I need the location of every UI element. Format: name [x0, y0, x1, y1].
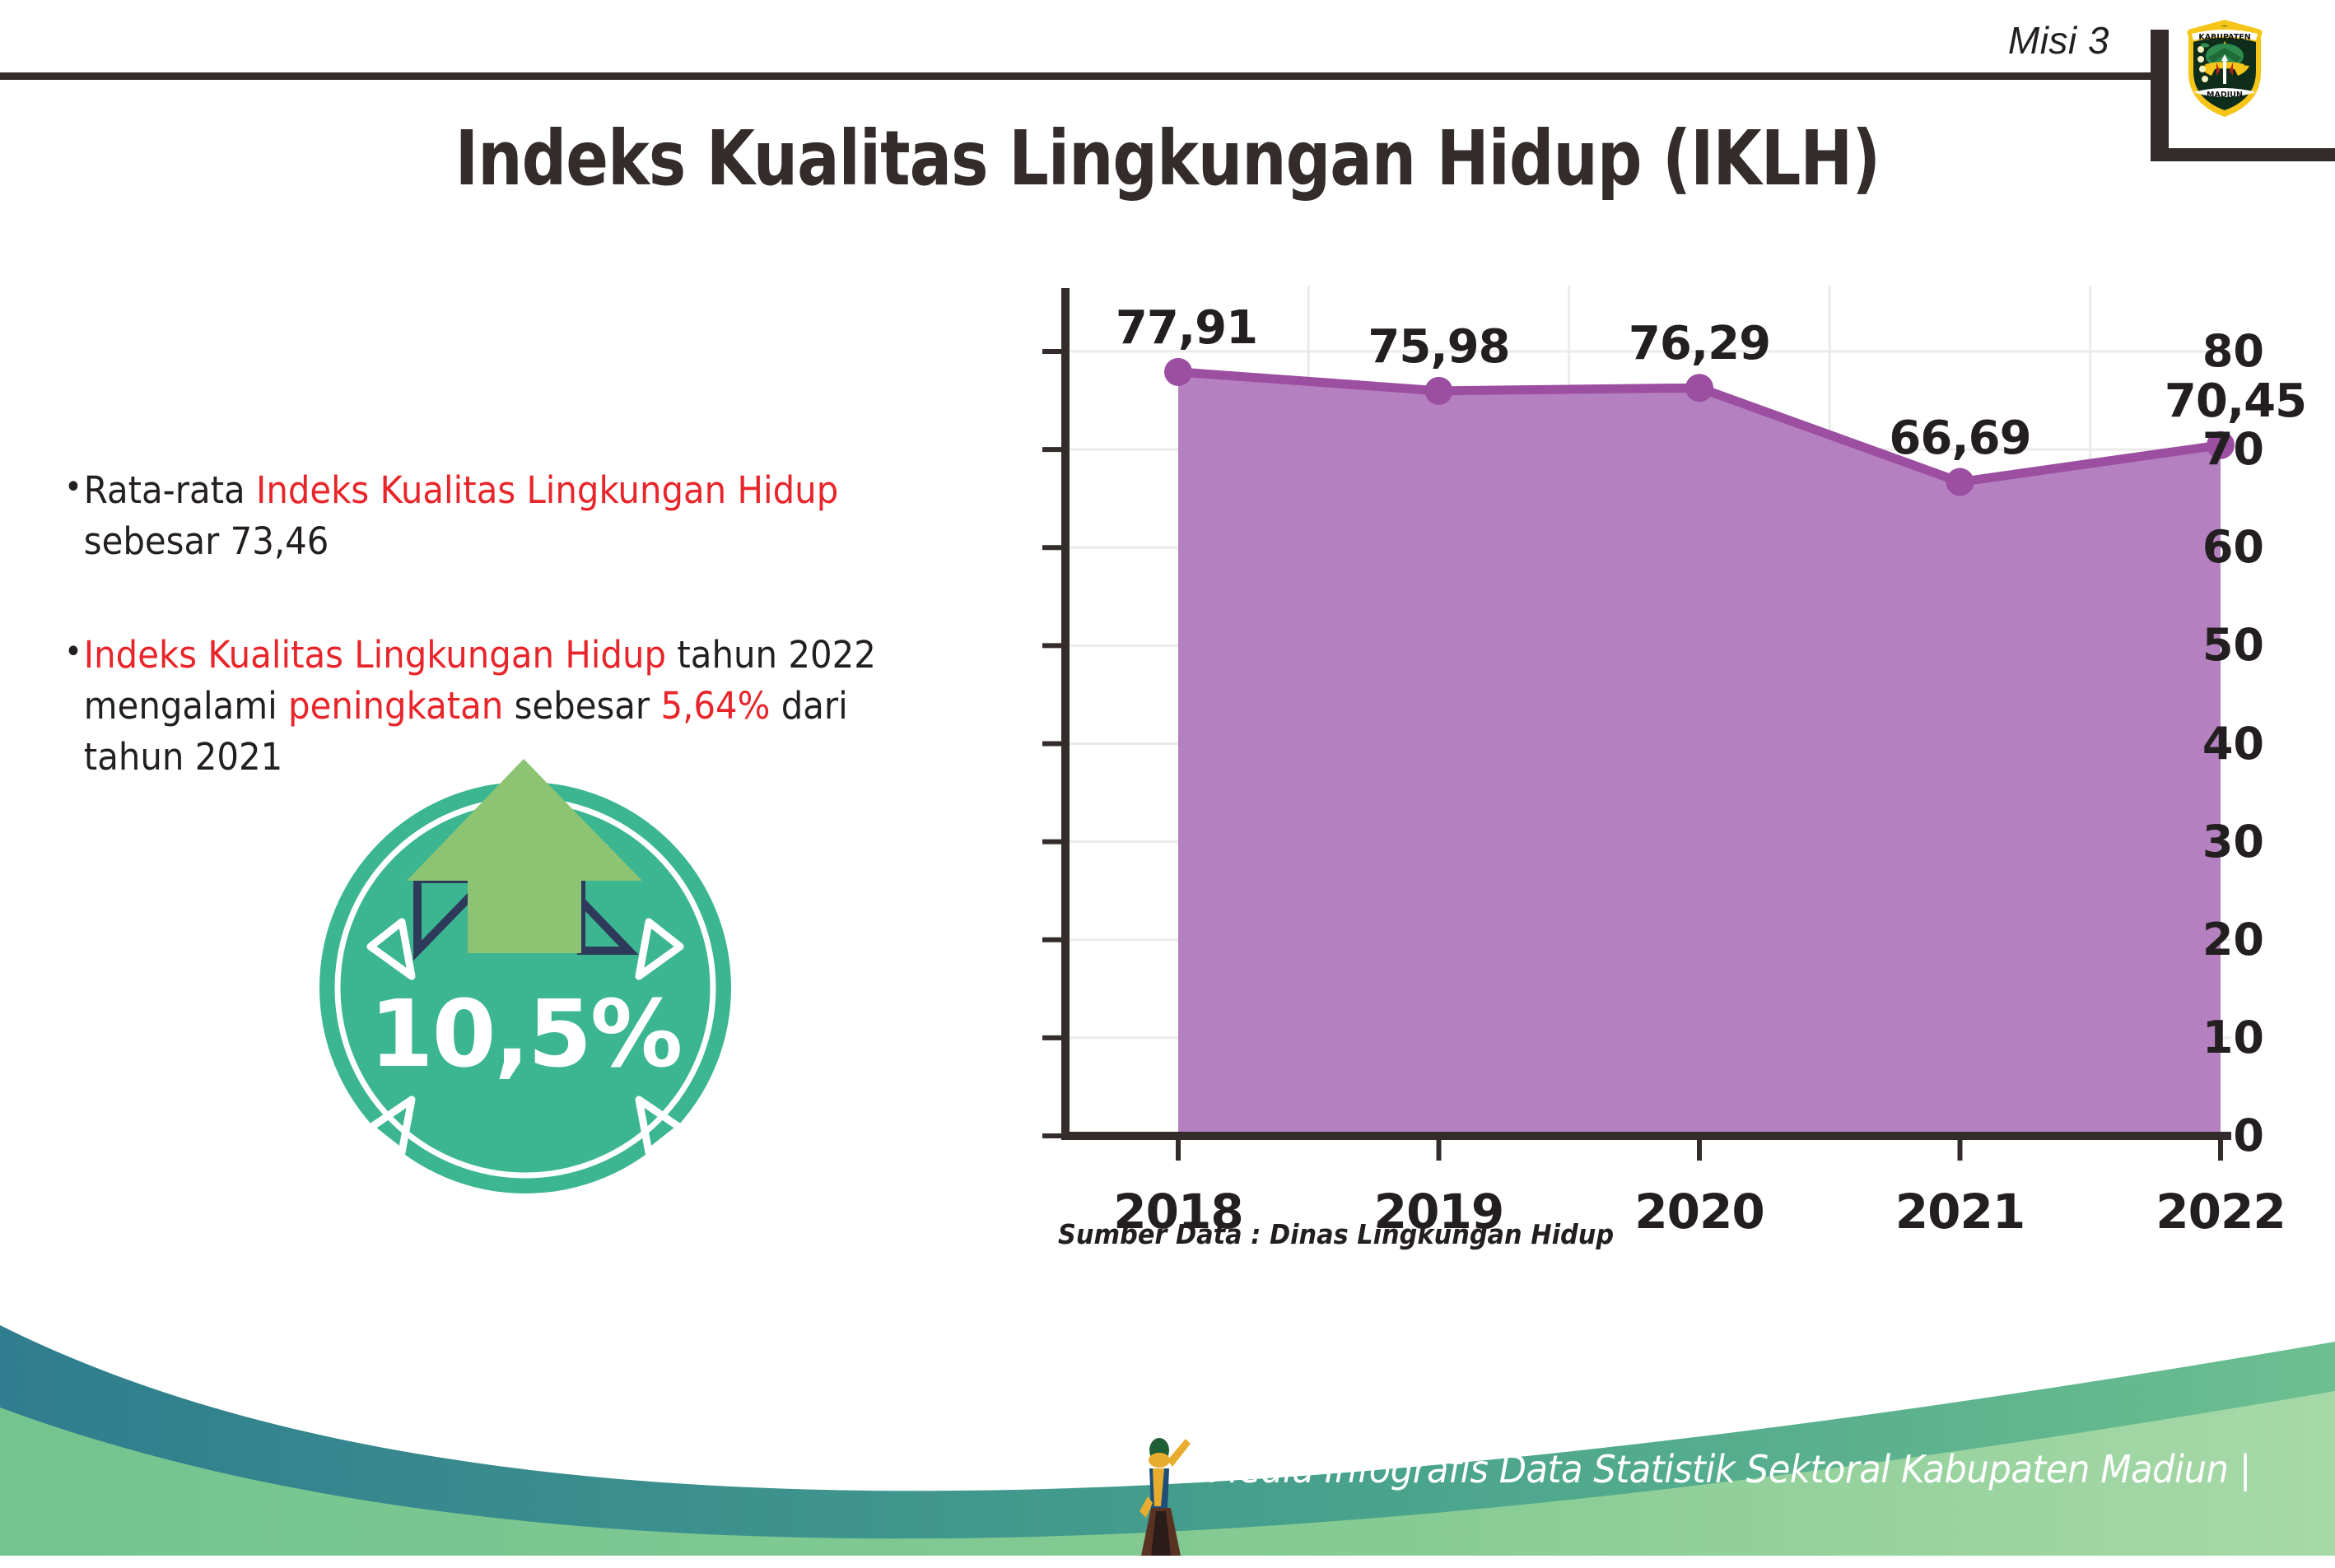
y-axis-tick-label: 60 — [2172, 521, 2264, 573]
crest-top-label: KABUPATEN — [2198, 33, 2250, 42]
header-divider-line — [0, 72, 2157, 80]
bullet-text-0: Rata-rata Indeks Kualitas Lingkungan Hid… — [84, 465, 883, 567]
footer-caption: Media Infografis Data Statistik Sektoral… — [1209, 1447, 2251, 1491]
x-axis-tick-label: 2021 — [1862, 1184, 2059, 1240]
data-point-marker — [1946, 468, 1974, 496]
chart-source-note: Sumber Data : Dinas Lingkungan Hidup — [1058, 1218, 1614, 1250]
iklh-area-chart: 01020304050607080 20182019202020212022 7… — [947, 280, 2264, 1202]
bullet-1-seg-4: 5,64% — [660, 684, 770, 728]
data-point-marker — [1685, 374, 1713, 402]
data-point-value-label: 77,91 — [1079, 301, 1293, 355]
data-point-value-label: 75,98 — [1332, 320, 1546, 374]
y-axis-tick-label: 10 — [2172, 1012, 2264, 1063]
bullet-1-seg-3: sebesar — [503, 684, 660, 728]
y-axis-tick-label: 70 — [2172, 423, 2264, 475]
kabupaten-madiun-crest-logo: KABUPATEN MADIUN — [2180, 12, 2269, 120]
bullet-0-seg-1: Indeks Kualitas Lingkungan Hidup — [256, 468, 838, 512]
bullet-marker: • — [64, 465, 82, 510]
list-item: • Rata-rata Indeks Kualitas Lingkungan H… — [64, 465, 883, 567]
data-point-value-label: 70,45 — [2128, 375, 2335, 428]
y-axis-tick-label: 0 — [2172, 1110, 2264, 1161]
badge-value-label: 10,5% — [319, 981, 731, 1088]
x-axis-tick-label: 2020 — [1601, 1184, 1798, 1240]
data-point-value-label: 76,29 — [1592, 317, 1806, 370]
mission-label: Misi 3 — [2008, 18, 2109, 63]
data-point-marker — [1164, 358, 1192, 386]
bullet-0-seg-2: sebesar 73,46 — [84, 519, 329, 563]
mascot-icon — [1128, 1432, 1210, 1564]
crest-bottom-label: MADIUN — [2207, 91, 2243, 100]
bullet-1-seg-2: peningkatan — [288, 684, 503, 728]
bullet-1-seg-0: Indeks Kualitas Lingkungan Hidup — [84, 633, 666, 677]
page-title: Indeks Kualitas Lingkungan Hidup (IKLH) — [82, 115, 2253, 202]
x-axis-tick-label: 2022 — [2122, 1184, 2319, 1240]
data-point-value-label: 66,69 — [1853, 412, 2067, 465]
y-axis-tick-label: 80 — [2172, 325, 2264, 377]
y-axis-tick-label: 20 — [2172, 914, 2264, 965]
data-point-marker — [1425, 377, 1453, 405]
increase-badge: 10,5% — [319, 741, 781, 1202]
y-axis-tick-label: 50 — [2172, 619, 2264, 671]
bullet-marker: • — [64, 630, 82, 675]
bullet-0-seg-0: Rata-rata — [84, 468, 256, 512]
area-fill — [1178, 372, 2221, 1136]
y-axis-tick-label: 30 — [2172, 816, 2264, 868]
y-axis-tick-label: 40 — [2172, 718, 2264, 770]
